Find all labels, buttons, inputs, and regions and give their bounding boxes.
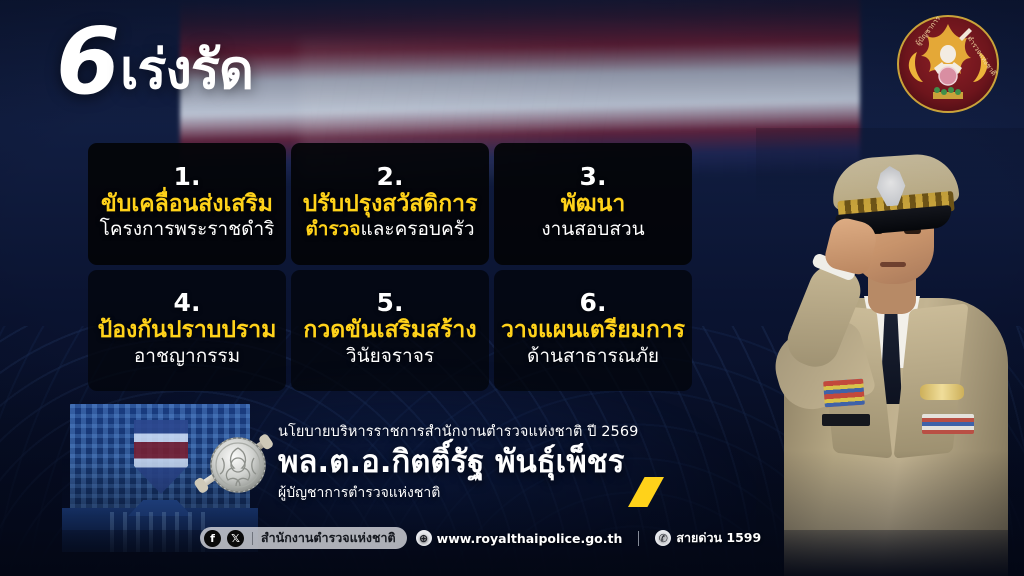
card-number: 1.	[174, 164, 201, 190]
hotline-text: สายด่วน 1599	[676, 528, 761, 548]
card-number: 5.	[377, 290, 404, 316]
card-main-text: ปรับปรุงสวัสดิการ	[303, 191, 478, 218]
card-sub-highlight: ตำรวจ	[305, 218, 360, 240]
priority-card-5[interactable]: 5. กวดขันเสริมสร้าง วินัยจราจร	[291, 270, 489, 392]
card-sub-text: โครงการพระราชดำริ	[100, 218, 275, 242]
priority-card-1[interactable]: 1. ขับเคลื่อนส่งเสริม โครงการพระราชดำริ	[88, 143, 286, 265]
website-url: www.royalthaipolice.go.th	[437, 531, 623, 546]
card-number: 6.	[580, 290, 607, 316]
social-pill[interactable]: f 𝕏 สำนักงานตำรวจแห่งชาติ	[200, 527, 407, 549]
card-number: 3.	[580, 164, 607, 190]
divider	[638, 531, 639, 546]
saluting-police-officer-portrait	[756, 128, 1024, 576]
card-main-text: พัฒนา	[561, 191, 626, 218]
page-title: 6 เร่งรัด	[56, 22, 253, 103]
card-main-text: ขับเคลื่อนส่งเสริม	[101, 191, 273, 218]
facebook-icon[interactable]: f	[204, 530, 221, 547]
priority-card-6[interactable]: 6. วางแผนเตรียมการ ด้านสาธารณภัย	[494, 270, 692, 392]
card-number: 4.	[174, 290, 201, 316]
card-number: 2.	[377, 164, 404, 190]
commissioner-name: พล.ต.อ.กิตติ์รัฐ พันธุ์เพ็ชร	[278, 444, 708, 481]
phone-icon: ✆	[655, 530, 671, 546]
card-sub-tail: และครอบครัว	[360, 218, 474, 240]
card-main-text: กวดขันเสริมสร้าง	[303, 317, 476, 344]
priority-card-4[interactable]: 4. ป้องกันปราบปราม อาชญากรรม	[88, 270, 286, 392]
footer-contacts: f 𝕏 สำนักงานตำรวจแห่งชาติ ⊕ www.royaltha…	[200, 527, 761, 549]
card-main-text: ป้องกันปราบปราม	[98, 317, 277, 344]
card-sub-text: ตำรวจและครอบครัว	[305, 218, 474, 242]
card-sub-text: งานสอบสวน	[541, 218, 644, 242]
title-number: 6	[56, 22, 120, 103]
infographic-poster: ผู้บัญชาการ ตำรวจแห่งชาติ 6 เร่งรัด	[0, 0, 1024, 576]
card-sub-text: ด้านสาธารณภัย	[527, 345, 659, 369]
silver-shield-sword-emblem	[188, 418, 280, 510]
card-sub-text: อาชญากรรม	[134, 345, 240, 369]
card-main-text: วางแผนเตรียมการ	[501, 317, 685, 344]
hotline-item[interactable]: ✆ สายด่วน 1599	[655, 528, 761, 548]
globe-icon: ⊕	[416, 530, 432, 546]
x-twitter-icon[interactable]: 𝕏	[227, 530, 244, 547]
social-handle: สำนักงานตำรวจแห่งชาติ	[261, 528, 396, 548]
priority-card-2[interactable]: 2. ปรับปรุงสวัสดิการ ตำรวจและครอบครัว	[291, 143, 489, 265]
policy-line: นโยบายบริหารราชการสำนักงานตำรวจแห่งชาติ …	[278, 420, 708, 443]
website-item[interactable]: ⊕ www.royalthaipolice.go.th	[416, 530, 623, 546]
priority-card-3[interactable]: 3. พัฒนา งานสอบสวน	[494, 143, 692, 265]
royal-thai-police-emblem-icon: ผู้บัญชาการ ตำรวจแห่งชาติ	[889, 12, 1007, 116]
title-word: เร่งรัด	[120, 43, 253, 103]
card-sub-text: วินัยจราจร	[346, 345, 434, 369]
divider	[252, 532, 253, 545]
priority-cards-grid: 1. ขับเคลื่อนส่งเสริม โครงการพระราชดำริ …	[88, 143, 692, 391]
